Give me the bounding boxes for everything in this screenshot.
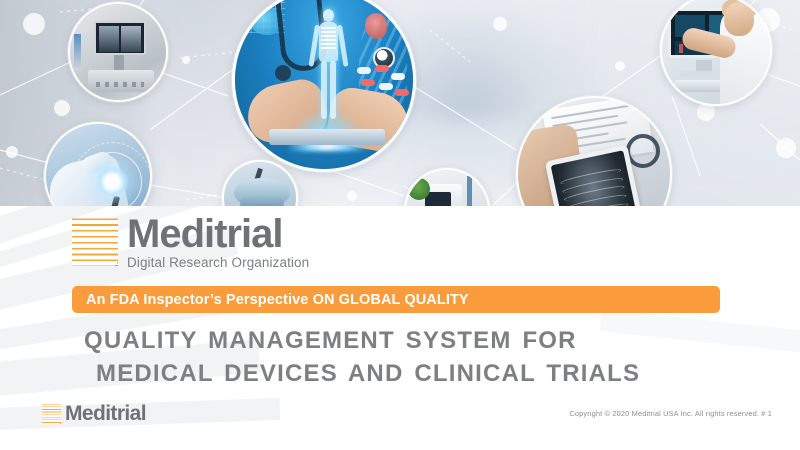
hero-collage-image <box>0 0 800 206</box>
presentation-slide: Meditrial Digital Research Organization … <box>0 0 800 450</box>
footer-brand-name: Meditrial <box>65 402 146 426</box>
node-holographic-body <box>232 0 416 172</box>
node-tablet-chest-xray <box>516 96 672 206</box>
node-gloved-hand-device <box>44 122 152 206</box>
page-title-line-1: QUALITY MANAGEMENT SYSTEM FOR <box>84 327 577 354</box>
node-lab-dish <box>222 160 298 206</box>
copyright-notice: Copyright © 2020 Meditrial USA Inc. All … <box>569 409 772 418</box>
slide-content-area: Meditrial Digital Research Organization … <box>0 206 800 450</box>
node-xray-monitor <box>68 2 168 102</box>
brand-name: Meditrial <box>127 214 309 254</box>
meditrial-logo-icon <box>72 218 118 266</box>
subtitle-banner-text: An FDA Inspector’s Perspective ON GLOBAL… <box>72 292 469 308</box>
footer-brand-logo: Meditrial <box>42 402 146 426</box>
node-doctor-computer <box>660 0 772 106</box>
subtitle-banner: An FDA Inspector’s Perspective ON GLOBAL… <box>72 286 720 313</box>
meditrial-footer-logo-icon <box>42 404 61 424</box>
page-title: QUALITY MANAGEMENT SYSTEM FOR MEDICAL DE… <box>84 324 774 390</box>
node-medical-equipment <box>404 168 490 206</box>
page-title-line-2: MEDICAL DEVICES AND CLINICAL TRIALS <box>84 357 774 390</box>
brand-logo: Meditrial Digital Research Organization <box>72 218 309 270</box>
brand-tagline: Digital Research Organization <box>127 255 309 270</box>
